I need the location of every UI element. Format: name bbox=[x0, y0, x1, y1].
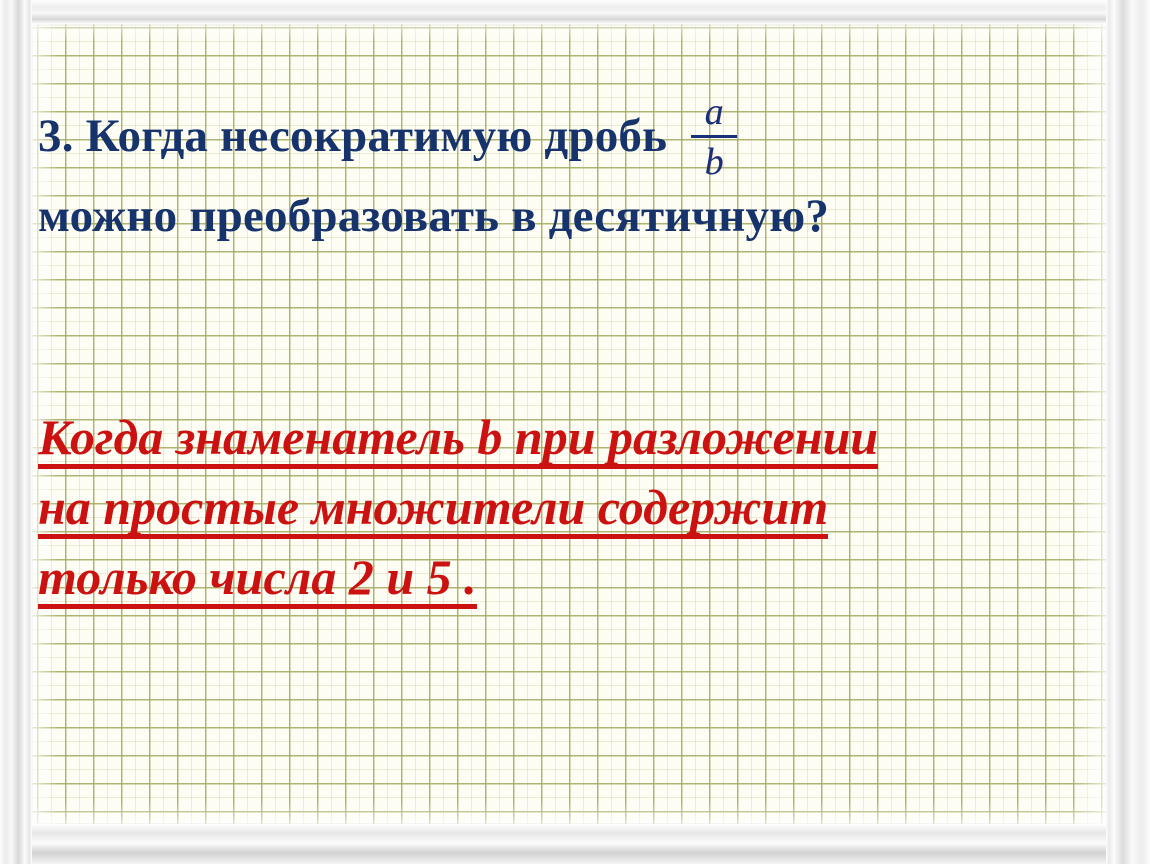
frame-border-bottom bbox=[0, 824, 1150, 864]
answer-line-1: Когда знаменатель b при разложении bbox=[38, 412, 878, 462]
frame-border-top bbox=[0, 0, 1150, 24]
fraction-a-over-b: a b bbox=[691, 90, 737, 184]
question-line-2: можно преобразовать в десятичную? bbox=[38, 184, 1098, 248]
fraction-bar bbox=[691, 135, 737, 138]
answer-line-3: только числа 2 и 5 . bbox=[38, 552, 477, 602]
frame-border-right bbox=[1106, 0, 1150, 864]
frame-border-left bbox=[0, 0, 32, 864]
graph-paper-background: 3. Когда несократимую дробь a b можно пр… bbox=[32, 24, 1106, 824]
fraction-denominator: b bbox=[701, 140, 728, 184]
answer-line-2: на простые множители содержит bbox=[38, 482, 828, 532]
question-text-block: 3. Когда несократимую дробь a b можно пр… bbox=[38, 104, 1098, 248]
question-line-1: 3. Когда несократимую дробь a b bbox=[38, 104, 1098, 184]
answer-text-block: Когда знаменатель b при разложении на пр… bbox=[38, 412, 1098, 622]
question-line-1-text: 3. Когда несократимую дробь bbox=[38, 104, 667, 168]
fraction-numerator: a bbox=[701, 90, 728, 134]
slide: 3. Когда несократимую дробь a b можно пр… bbox=[0, 0, 1150, 864]
